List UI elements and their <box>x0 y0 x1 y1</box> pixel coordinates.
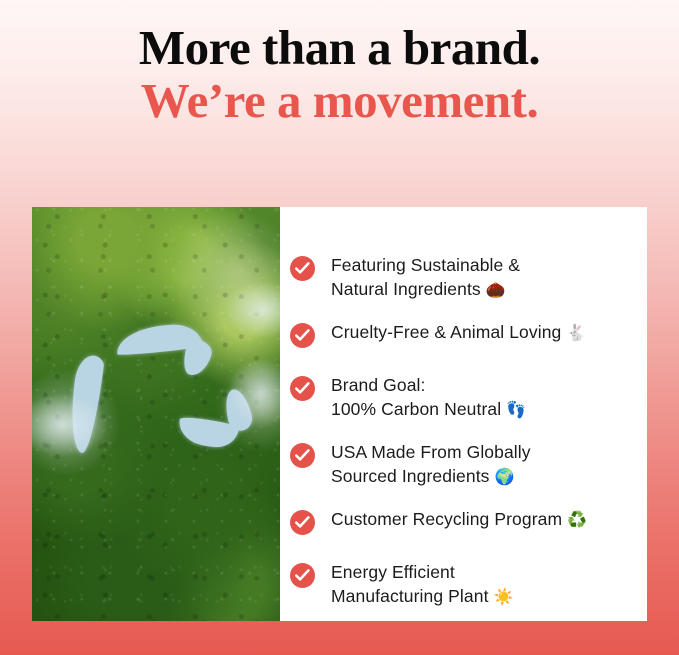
list-item: Customer Recycling Program ♻️ <box>290 507 631 535</box>
page-title: More than a brand. We’re a movement. <box>0 22 679 128</box>
chestnut-emoji: 🌰 <box>486 280 506 299</box>
check-circle-icon <box>290 510 315 535</box>
content-card: Featuring Sustainable & Natural Ingredie… <box>32 207 647 621</box>
benefits-list: Featuring Sustainable & Natural Ingredie… <box>280 207 647 621</box>
footprints-emoji: 👣 <box>506 400 526 419</box>
check-circle-icon <box>290 376 315 401</box>
list-item: Featuring Sustainable & Natural Ingredie… <box>290 253 631 302</box>
page-title-line-2: We’re a movement. <box>0 74 679 128</box>
list-item-label: Brand Goal: 100% Carbon Neutral 👣 <box>331 373 526 422</box>
check-circle-icon <box>290 563 315 588</box>
list-item-label: Customer Recycling Program ♻️ <box>331 507 587 532</box>
page-root: { "heading": { "line1": "More than a bra… <box>0 0 679 655</box>
recycle-emoji: ♻️ <box>567 510 587 529</box>
check-circle-icon <box>290 256 315 281</box>
sun-emoji: ☀️ <box>494 587 514 606</box>
check-circle-icon <box>290 323 315 348</box>
page-title-line-1: More than a brand. <box>0 22 679 74</box>
list-item: Energy Efficient Manufacturing Plant ☀️ <box>290 560 631 609</box>
rabbit-emoji: 🐇 <box>566 323 586 342</box>
list-item: Brand Goal: 100% Carbon Neutral 👣 <box>290 373 631 422</box>
check-circle-icon <box>290 443 315 468</box>
list-item-label: Cruelty-Free & Animal Loving 🐇 <box>331 320 586 345</box>
list-item-label: Featuring Sustainable & Natural Ingredie… <box>331 253 520 302</box>
list-item: Cruelty-Free & Animal Loving 🐇 <box>290 320 631 348</box>
forest-aerial-recycle-photo <box>32 207 280 621</box>
globe-emoji: 🌍 <box>495 467 515 486</box>
list-item: USA Made From Globally Sourced Ingredien… <box>290 440 631 489</box>
list-item-label: USA Made From Globally Sourced Ingredien… <box>331 440 531 489</box>
list-item-label: Energy Efficient Manufacturing Plant ☀️ <box>331 560 514 609</box>
